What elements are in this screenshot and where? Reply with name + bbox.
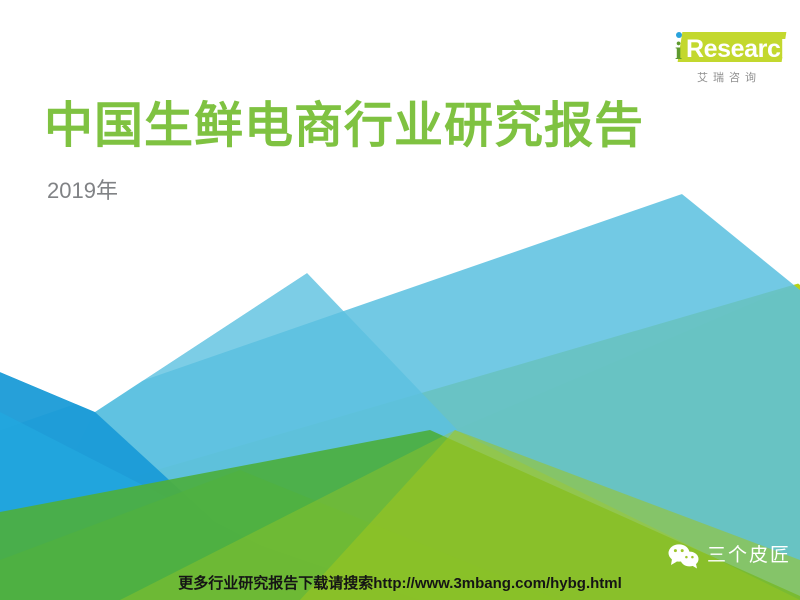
title-slide: i Research 艾瑞咨询 中国生鲜电商行业研究报告 2019年 更多行业研… — [0, 0, 800, 600]
logo-initial: i — [675, 39, 682, 64]
wechat-badge: 三个皮匠 — [668, 543, 791, 569]
logo-chinese-name: 艾瑞咨询 — [678, 72, 780, 85]
decorative-background — [0, 0, 800, 600]
logo-wordmark: Research — [686, 36, 795, 62]
page-title: 中国生鲜电商行业研究报告 — [44, 96, 644, 156]
iresearch-logo: i Research 艾瑞咨询 — [666, 28, 788, 90]
footer-download-note: 更多行业研究报告下载请搜索http://www.3mbang.com/hybg.… — [0, 574, 800, 594]
logo-mark: i Research — [666, 28, 788, 68]
page-subtitle-year: 2019年 — [47, 177, 118, 205]
wechat-label: 三个皮匠 — [707, 545, 791, 567]
wechat-icon — [668, 543, 700, 569]
